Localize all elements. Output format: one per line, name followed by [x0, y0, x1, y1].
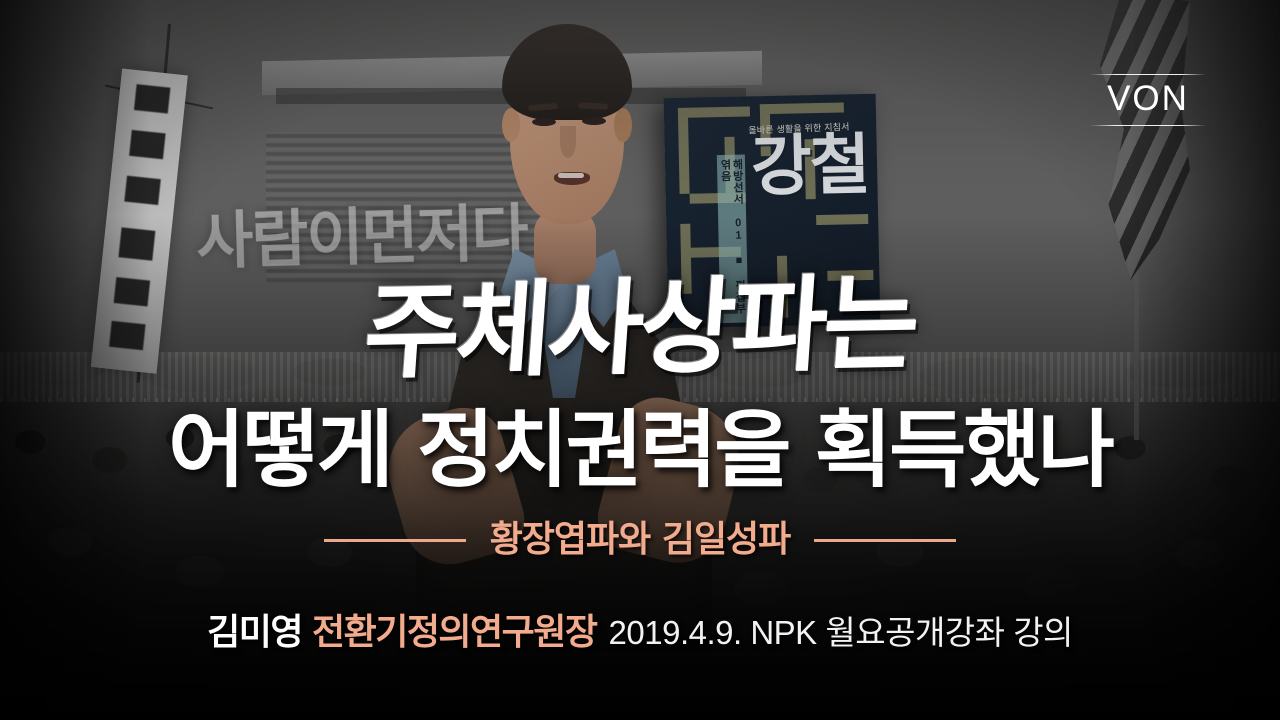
subtitle-rule-left	[324, 539, 466, 542]
event-info: 2019.4.9. NPK 월요공개강좌 강의	[609, 606, 1073, 654]
channel-logo-text: VON	[1096, 81, 1200, 117]
caption-row: 김미영 전환기정의연구원장 2019.4.9. NPK 월요공개강좌 강의	[0, 603, 1280, 655]
thumbnail-canvas: 사람이먼저다 해방선서 01 ■ 편집부 엮음 올바른 생활을 위한 지침서 강…	[0, 0, 1280, 720]
title-line-1: 주체사상파는	[0, 261, 1280, 395]
speaker-name: 김미영	[207, 603, 302, 655]
channel-logo[interactable]: VON	[1096, 74, 1200, 126]
subtitle-text: 황장엽파와 김일성파	[490, 518, 791, 562]
subtitle-rule-right	[814, 539, 956, 542]
speaker-role: 전환기정의연구원장	[312, 603, 597, 655]
subtitle-row: 황장엽파와 김일성파	[0, 518, 1280, 562]
title-line-2: 어떻게 정치권력을 획득했나	[0, 404, 1280, 496]
